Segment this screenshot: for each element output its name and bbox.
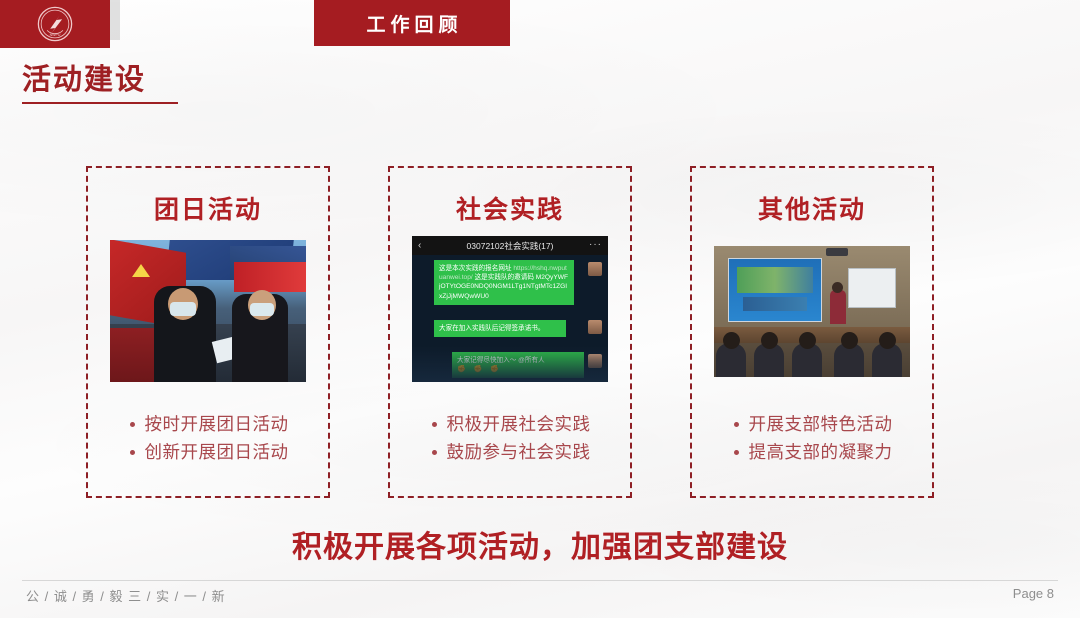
card-qita-huodong[interactable]: 其他活动: [690, 166, 934, 498]
page-number: Page 8: [1013, 586, 1054, 601]
back-icon: ‹: [418, 240, 421, 251]
list-item: 积极开展社会实践: [430, 410, 591, 438]
list-item: 开展支部特色活动: [732, 410, 893, 438]
card-bullet-list: 开展支部特色活动 提高支部的凝聚力: [692, 410, 932, 466]
footer-motto: 公 / 诚 / 勇 / 毅 三 / 实 / 一 / 新: [26, 586, 226, 605]
list-item: 提高支部的凝聚力: [732, 438, 893, 466]
outdoor-booth-photo: [110, 240, 306, 382]
card-shehui-shijian[interactable]: 社会实践 03072102社会实践(17) ‹ ··· 这是本次实践的报名网址 …: [388, 166, 632, 498]
card-title: 社会实践: [456, 190, 564, 226]
card-title: 其他活动: [758, 190, 866, 226]
title-underline: [22, 102, 178, 104]
logo-block: NWPU: [0, 0, 110, 48]
cards-row: 团日活动 按时开展团日活动 创新开展团日活动: [0, 166, 1080, 498]
list-item: 鼓励参与社会实践: [430, 438, 591, 466]
wechat-chat-screenshot: 03072102社会实践(17) ‹ ··· 这是本次实践的报名网址 https…: [412, 236, 608, 382]
slide-tagline: 积极开展各项活动，加强团支部建设: [0, 522, 1080, 566]
chat-bubble: 大家在加入实践队后记得签承诺书。: [434, 320, 566, 337]
card-bullet-list: 积极开展社会实践 鼓励参与社会实践: [390, 410, 630, 466]
university-seal-icon: NWPU: [36, 5, 74, 43]
logo-stub-accent: [110, 0, 120, 40]
card-bullet-list: 按时开展团日活动 创新开展团日活动: [88, 410, 328, 466]
page-title-wrap: 活动建设: [22, 62, 178, 104]
avatar: [588, 262, 602, 276]
lecture-room-photo: [714, 246, 910, 377]
list-item: 按时开展团日活动: [128, 410, 289, 438]
list-item: 创新开展团日活动: [128, 438, 289, 466]
chat-bubble: 这是本次实践的报名网址 https://hshq.nwputuanwei.top…: [434, 260, 574, 305]
more-icon: ···: [589, 239, 602, 250]
svg-text:NWPU: NWPU: [50, 33, 61, 37]
page-title: 活动建设: [22, 62, 178, 98]
card-title: 团日活动: [154, 190, 262, 226]
nav-tab-work-review[interactable]: 工作回顾: [314, 0, 510, 46]
chat-title: 03072102社会实践(17): [467, 240, 554, 252]
avatar: [588, 320, 602, 334]
card-tuanri-huodong[interactable]: 团日活动 按时开展团日活动 创新开展团日活动: [86, 166, 330, 498]
footer-divider: [22, 580, 1058, 581]
top-bar: NWPU 工作回顾: [0, 0, 1080, 48]
slide: NWPU 工作回顾 活动建设 团日活动: [0, 0, 1080, 618]
chat-text: 这是本次实践的报名网址: [439, 265, 512, 272]
